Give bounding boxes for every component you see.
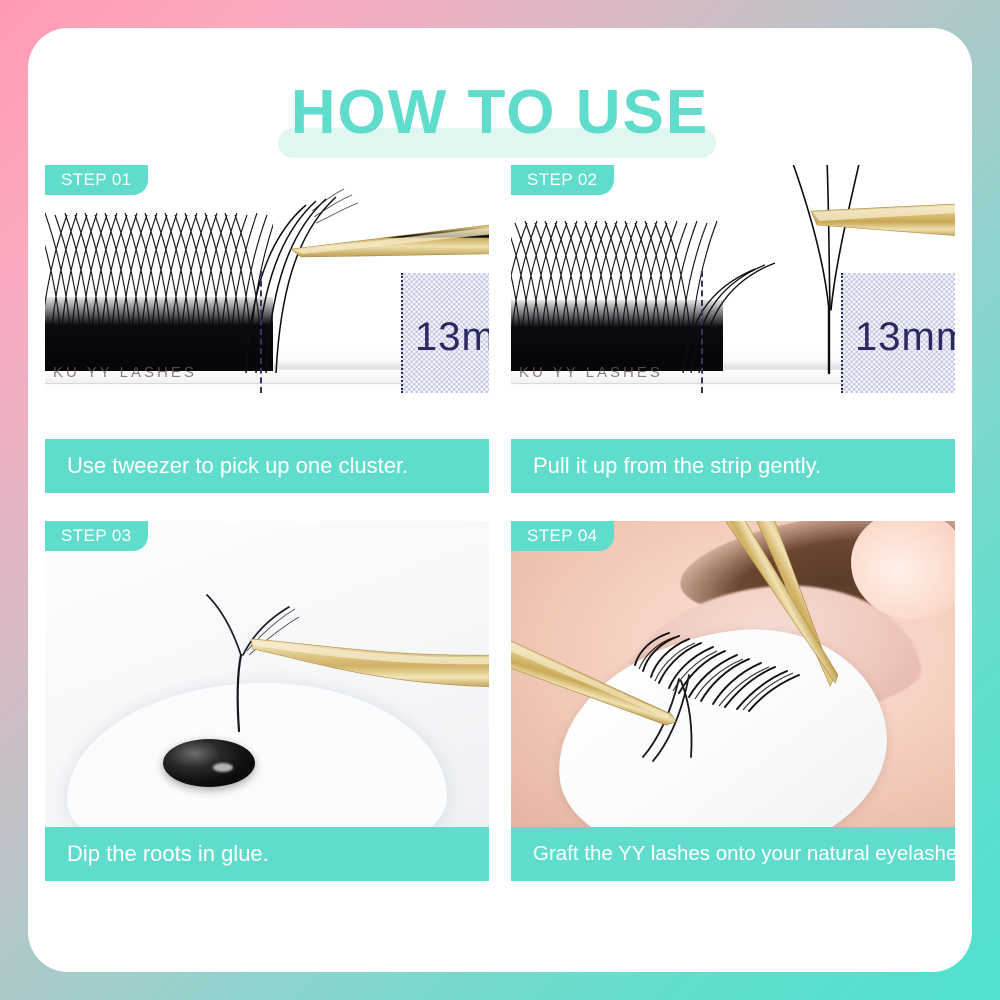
tweezer-icon-02 [811, 203, 955, 273]
step-photo-04: STEP 04 [511, 521, 955, 827]
content-card: HOW TO USE [28, 28, 972, 972]
page-title: HOW TO USE [28, 76, 972, 150]
tweezer-icon-03 [251, 633, 489, 703]
step-badge-03: STEP 03 [45, 521, 148, 551]
glue-scene-03 [45, 521, 489, 827]
glue-drop [163, 739, 255, 787]
step-badge-02: STEP 02 [511, 165, 614, 195]
lash-brand-text-02: KU YY LASHES [519, 364, 663, 381]
step-caption-04: Graft the YY lashes onto your natural ey… [511, 827, 955, 881]
step-caption-03: Dip the roots in glue. [45, 827, 489, 881]
tweezer-icon-01 [289, 217, 489, 297]
steps-grid: KU YY LASHES 13mm [45, 165, 955, 881]
length-patch-02: 13mm [841, 273, 955, 393]
lash-strip-scene-01: KU YY LASHES 13mm [45, 165, 489, 439]
tweezer-02 [811, 203, 955, 273]
length-label-02: 13mm [855, 315, 955, 360]
step-card-03: STEP 03 Dip the roots in glue. [45, 521, 489, 881]
step-card-04: STEP 04 Graft the YY lashes onto your na… [511, 521, 955, 881]
lash-strip-scene-02: KU YY LASHES 13mm [511, 165, 955, 439]
measure-dash-line-01 [260, 271, 262, 393]
lash-fan-band-01 [45, 195, 273, 371]
tweezer-03 [251, 633, 489, 703]
step-photo-01: KU YY LASHES 13mm [45, 165, 489, 439]
lash-band-base-01 [45, 297, 273, 371]
tweezer-01 [289, 217, 489, 297]
step-photo-03: STEP 03 [45, 521, 489, 827]
infographic-page: HOW TO USE [0, 0, 1000, 1000]
page-title-area: HOW TO USE [28, 76, 972, 160]
step-card-02: KU YY LASHES 13mm [511, 165, 955, 493]
lash-band-tail-02 [681, 253, 791, 373]
step-caption-01: Use tweezer to pick up one cluster. [45, 439, 489, 493]
step-card-01: KU YY LASHES 13mm [45, 165, 489, 493]
length-label-01: 13mm [415, 315, 489, 360]
step-photo-02: KU YY LASHES 13mm [511, 165, 955, 439]
lash-brand-text-01: KU YY LASHES [53, 364, 197, 381]
step-badge-01: STEP 01 [45, 165, 148, 195]
step-badge-04: STEP 04 [511, 521, 614, 551]
step-caption-02: Pull it up from the strip gently. [511, 439, 955, 493]
eye-scene-04 [511, 521, 955, 827]
measure-dash-line-02 [701, 271, 703, 393]
